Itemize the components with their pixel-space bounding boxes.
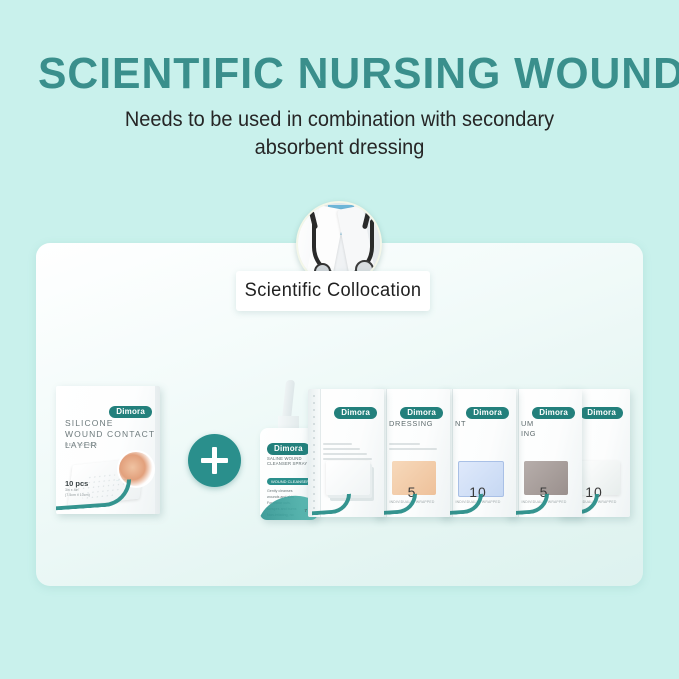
description-line [389, 448, 437, 450]
brand-logo: Dimora [532, 402, 575, 420]
brand-label: Dimora [400, 407, 443, 419]
brand-logo: Dimora [466, 402, 509, 420]
product-description-lines [323, 443, 375, 463]
product-description-lines [389, 443, 441, 453]
description-line [323, 453, 367, 455]
subtitle-line-2: absorbent dressing [17, 134, 662, 162]
brand-swoosh-graphic [56, 479, 131, 511]
description-line [389, 443, 420, 445]
collocation-label: Scientific Collocation [245, 280, 422, 302]
brand-label: Dimora [466, 407, 509, 419]
page-subtitle: Needs to be used in combination with sec… [17, 106, 662, 162]
brand-logo: Dimora [267, 438, 310, 456]
product-headline: DRESSING [389, 419, 433, 429]
scientific-collocation-card: Scientific Collocation [236, 271, 430, 311]
brand-logo: Dimora [580, 402, 623, 420]
marketing-banner: SCIENTIFIC NURSING WOUND T Needs to be u… [0, 0, 679, 679]
description-line [323, 443, 352, 445]
brand-label: Dimora [267, 443, 310, 455]
page-title: SCIENTIFIC NURSING WOUND T [38, 50, 679, 98]
subtitle-line-1: Needs to be used in combination with sec… [17, 106, 662, 134]
brand-label: Dimora [532, 407, 575, 419]
product-name-line-1: SILICONE [65, 418, 160, 429]
brand-label: Dimora [109, 406, 152, 418]
product-box-transparent-film-dressing[interactable]: Dimora NT 10 INDIVIDUALLY WRAPPED [440, 389, 516, 517]
brand-logo: Dimora [334, 402, 377, 420]
box-perforation-strip [313, 395, 315, 511]
product-name-line-2: WOUND CONTACT LAYER [65, 429, 160, 451]
bottle-category-tag: WOUND CLEANSER [267, 478, 313, 485]
product-ref-code: REF 707-S18 [65, 442, 97, 447]
product-headline: NT [455, 419, 466, 429]
product-box-foam-dressing[interactable]: Dimora DRESSING 5 INDIVIDUALLY WRAPPED [374, 389, 450, 517]
brand-label: Dimora [580, 407, 623, 419]
gauze-pad-illustration [326, 461, 370, 495]
description-line [323, 448, 360, 450]
brand-label: Dimora [334, 407, 377, 419]
product-box-calcium-alginate-dressing[interactable]: Dimora UM ING 5 INDIVIDUALLY WRAPPED [506, 389, 582, 517]
brand-logo: Dimora [109, 401, 152, 419]
product-box-silicone-wound-contact-layer[interactable]: Dimora SILICONE WOUND CONTACT LAYER REF … [56, 386, 160, 514]
description-line [323, 458, 372, 460]
product-box-gauze-pads[interactable]: Dimora [308, 389, 384, 517]
brand-swoosh-graphic [312, 494, 351, 516]
brand-logo: Dimora [400, 402, 443, 420]
product-headline: UM ING [521, 419, 536, 439]
plus-icon [188, 434, 241, 487]
